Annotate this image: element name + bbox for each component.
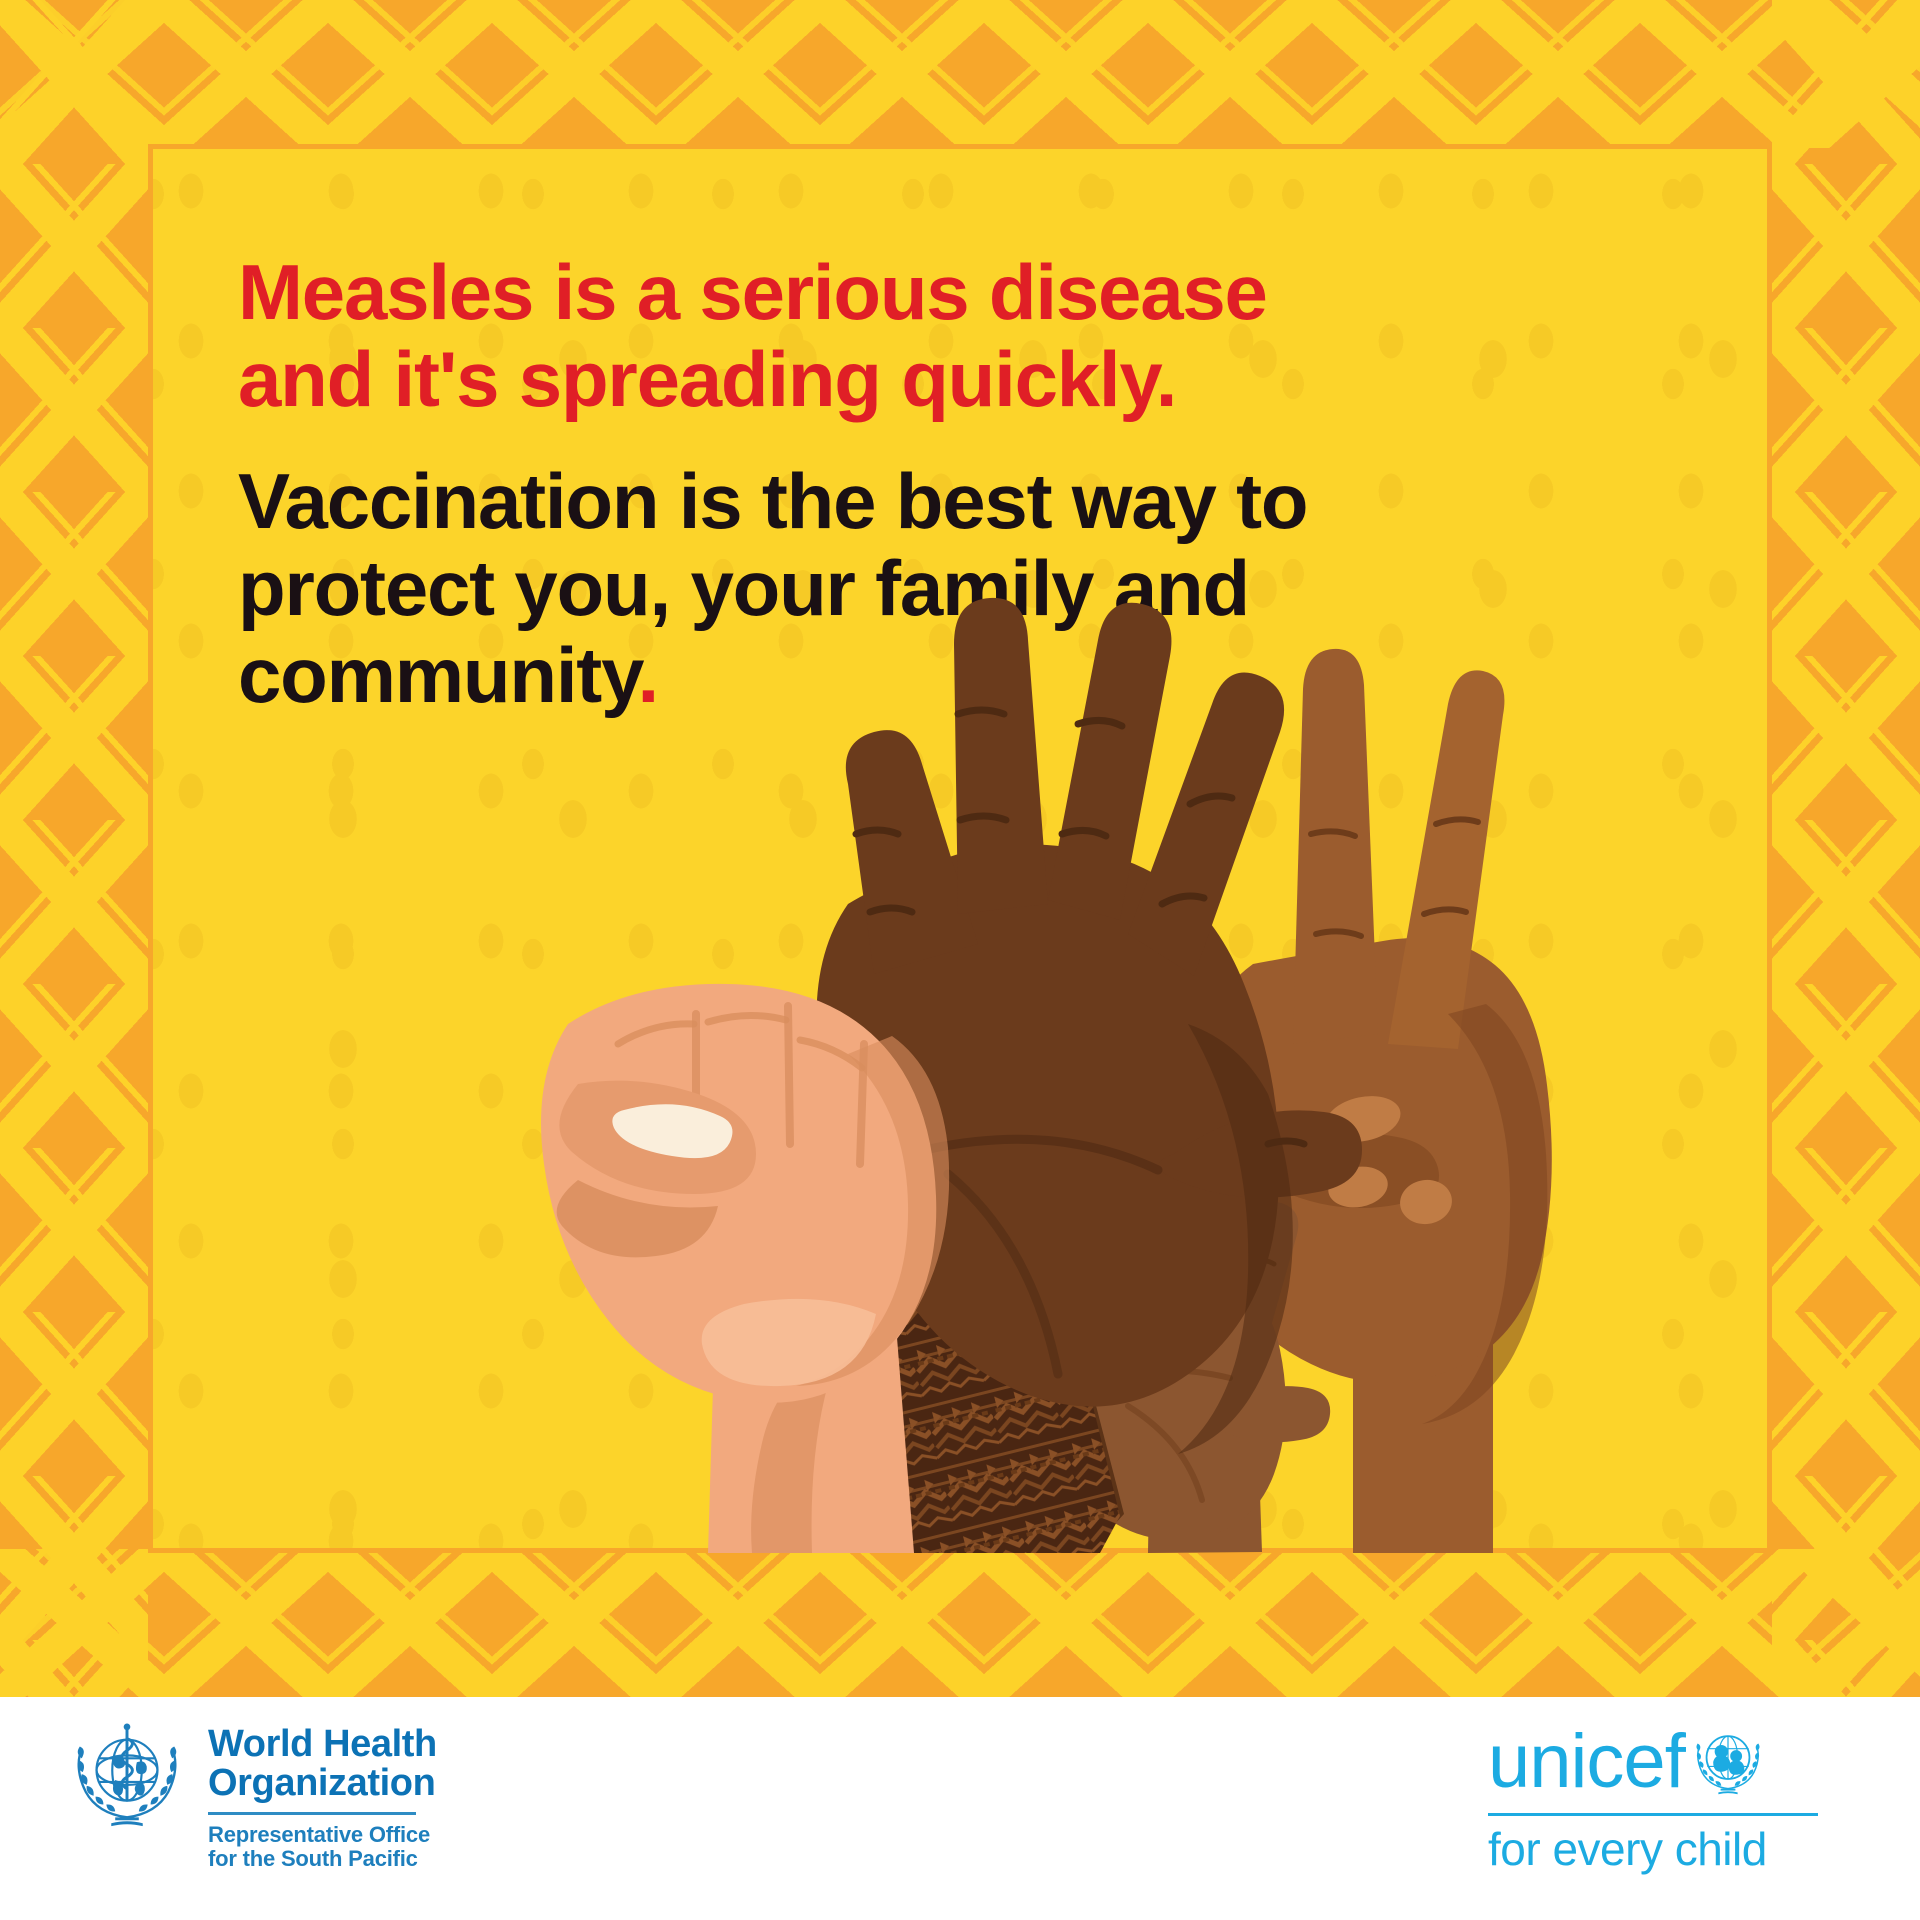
who-name-line1: World Health bbox=[208, 1725, 437, 1764]
footer-logos: World Health Organization Representative… bbox=[0, 1697, 1920, 1920]
unicef-emblem-icon bbox=[1691, 1725, 1765, 1799]
measles-vaccination-poster: Measles is a serious disease and it's sp… bbox=[0, 0, 1920, 1920]
tapa-border-left-stripes bbox=[0, 0, 148, 1697]
tapa-border-top-stripes bbox=[0, 0, 1920, 148]
poster-inner-panel: Measles is a serious disease and it's sp… bbox=[148, 144, 1772, 1553]
who-emblem-icon bbox=[68, 1719, 186, 1837]
who-wordmark: World Health Organization Representative… bbox=[208, 1719, 437, 1872]
unicef-divider bbox=[1488, 1813, 1818, 1816]
headline-black-period: . bbox=[637, 631, 657, 719]
who-logo: World Health Organization Representative… bbox=[68, 1719, 437, 1872]
who-sub-line2: for the South Pacific bbox=[208, 1847, 437, 1872]
who-divider bbox=[208, 1812, 416, 1815]
headline-black-text: Vaccination is the best way to protect y… bbox=[238, 457, 1307, 720]
unicef-wordmark: unicef bbox=[1488, 1726, 1685, 1798]
headline-red: Measles is a serious disease and it's sp… bbox=[238, 249, 1378, 424]
who-sub-line1: Representative Office bbox=[208, 1823, 437, 1848]
headline-black: Vaccination is the best way to protect y… bbox=[238, 458, 1378, 720]
tapa-border-right-stripes bbox=[1772, 0, 1920, 1697]
poster-copy: Measles is a serious disease and it's sp… bbox=[238, 249, 1378, 720]
unicef-tagline: for every child bbox=[1488, 1826, 1848, 1872]
poster-frame: Measles is a serious disease and it's sp… bbox=[0, 0, 1920, 1697]
who-name-line2: Organization bbox=[208, 1764, 437, 1803]
unicef-logo: unicef bbox=[1488, 1725, 1848, 1872]
tapa-border-bottom-stripes bbox=[0, 1549, 1920, 1697]
